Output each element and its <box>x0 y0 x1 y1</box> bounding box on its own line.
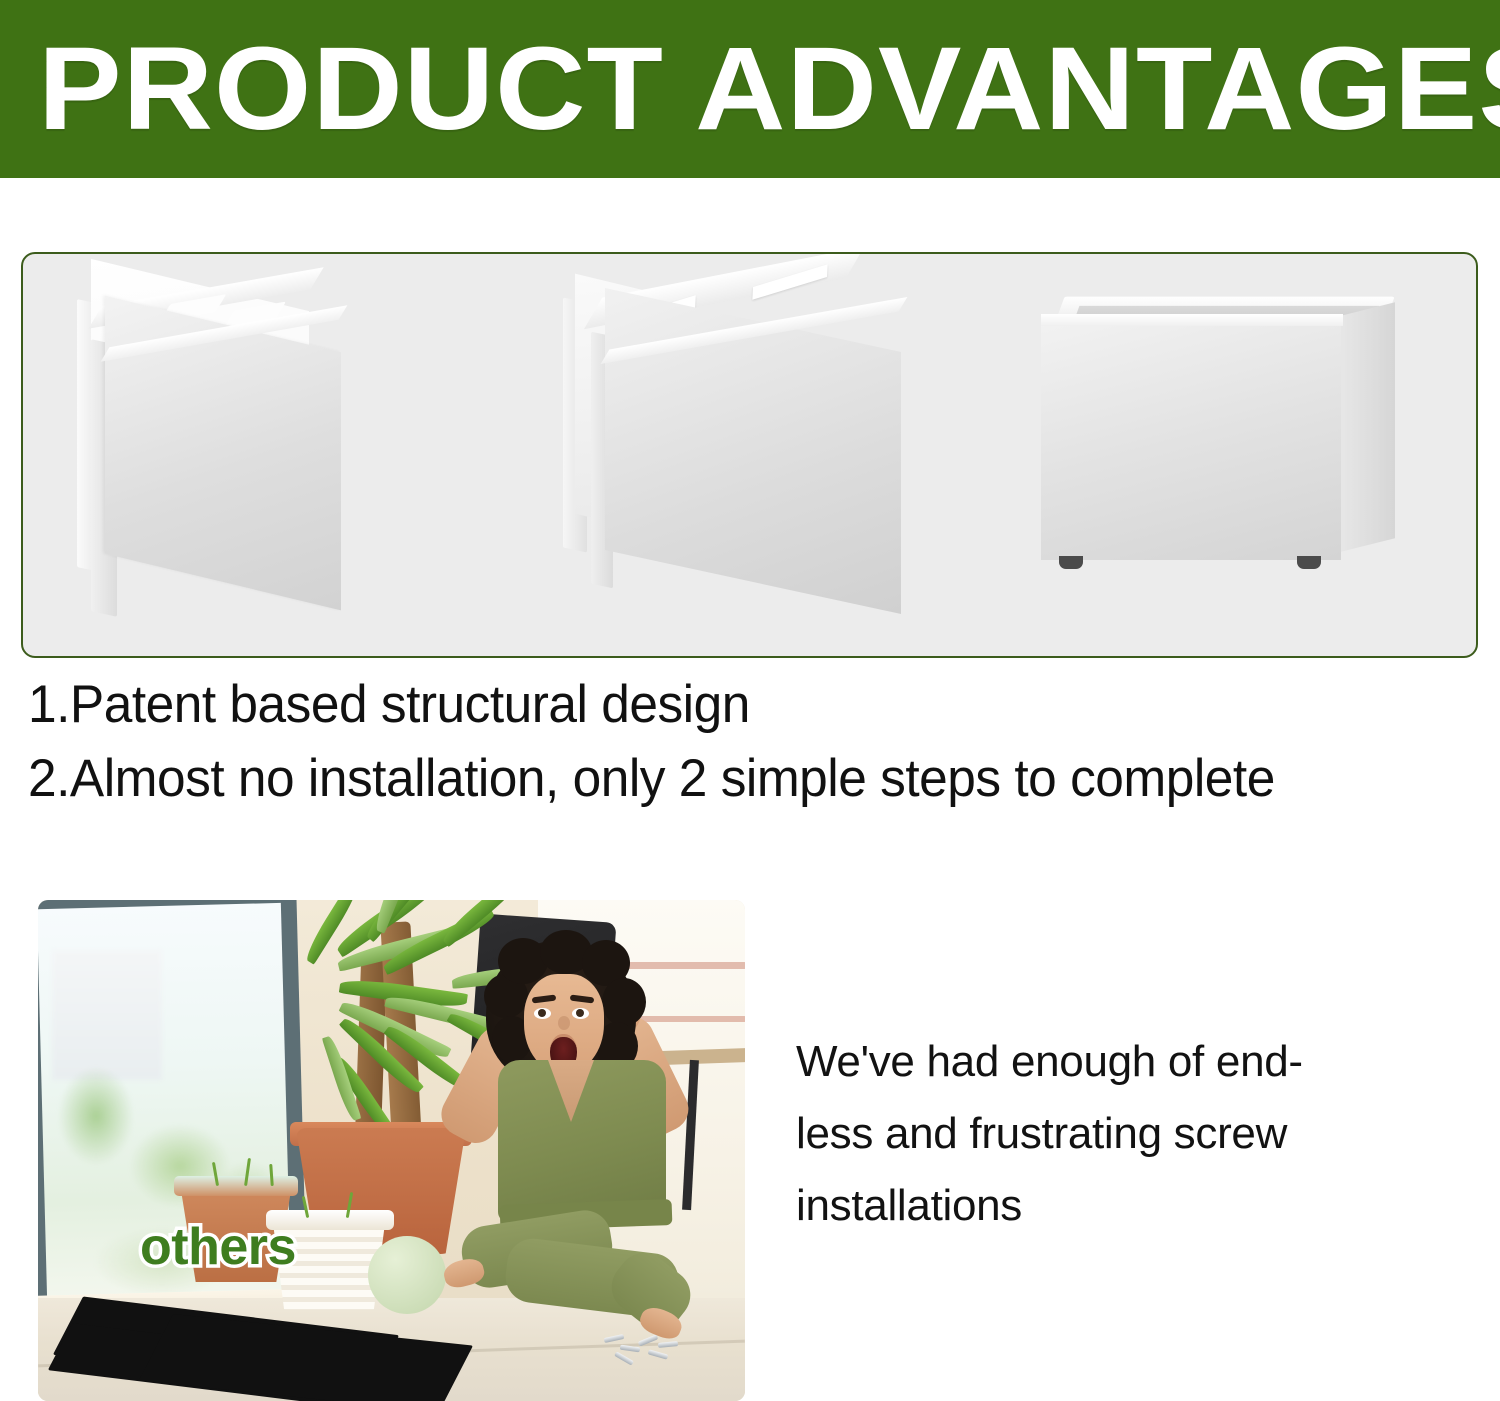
screw <box>638 1334 658 1346</box>
advantages-list: 1.Patent based structural design 2.Almos… <box>28 668 1468 816</box>
product-advantages-infographic: PRODUCT ADVANTAGES <box>0 0 1500 1401</box>
step-3-assembled-box <box>1033 284 1433 634</box>
hair-curl <box>602 978 646 1026</box>
small-pot-rim <box>174 1176 298 1196</box>
step-1-flat-packed-panels <box>61 282 461 627</box>
others-overlay-label: others <box>140 1221 296 1273</box>
frustration-paragraph: We've had enough of end- less and frustr… <box>796 1026 1396 1242</box>
paragraph-line-2: less and frustrating screw <box>796 1098 1396 1170</box>
box-foot-left <box>1059 556 1083 569</box>
box-foot-right <box>1297 556 1321 569</box>
paragraph-line-1: We've had enough of end- <box>796 1026 1396 1098</box>
screw <box>658 1341 678 1348</box>
lifestyle-photo-others <box>38 900 745 1401</box>
header-banner: PRODUCT ADVANTAGES <box>0 0 1500 178</box>
box-right-side <box>1333 302 1395 553</box>
screw <box>614 1351 634 1365</box>
box-front-top-edge <box>1041 314 1343 326</box>
page-title: PRODUCT ADVANTAGES <box>0 30 1500 148</box>
paragraph-line-3: installations <box>796 1170 1396 1242</box>
assembly-steps-panel <box>21 252 1478 658</box>
step-2-panels-unfolding <box>563 272 983 632</box>
advantage-item-1: 1.Patent based structural design <box>28 668 1425 742</box>
scattered-screws <box>604 1334 680 1364</box>
pale-green-vase <box>368 1236 446 1314</box>
screw <box>648 1349 669 1359</box>
screw <box>604 1334 625 1343</box>
box-front-face <box>1041 320 1341 560</box>
pupil-left <box>538 1009 546 1017</box>
frustrated-woman <box>436 930 736 1401</box>
screw <box>620 1345 641 1353</box>
pupil-right <box>576 1009 584 1017</box>
advantage-item-2: 2.Almost no installation, only 2 simple … <box>28 742 1425 816</box>
nose <box>558 1016 570 1030</box>
